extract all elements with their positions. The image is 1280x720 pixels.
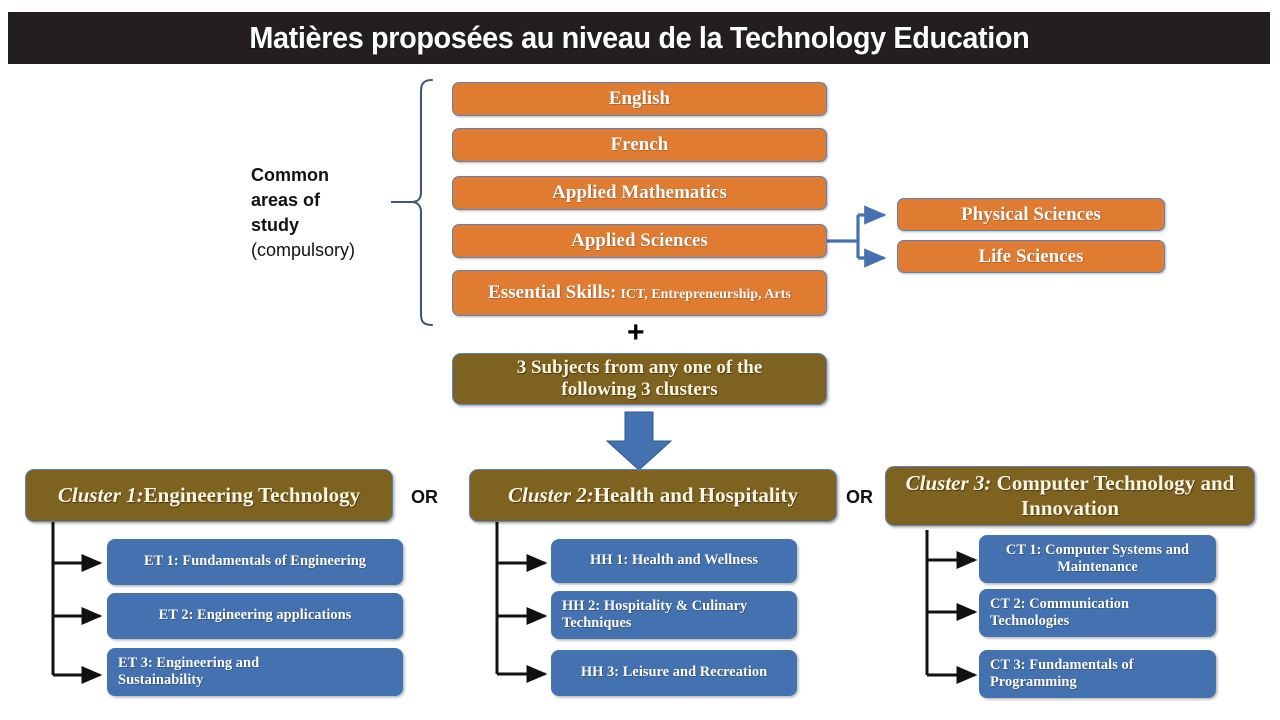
cluster-1-subject-label-et-2: ET 2: Engineering applications — [159, 607, 352, 624]
or-label-2: OR — [846, 487, 873, 508]
cluster-3-subject-ct-1[interactable]: CT 1: Computer Systems and Maintenance — [979, 535, 1216, 583]
cluster-2-title: Health and Hospitality — [594, 483, 798, 508]
common-areas-label-line1: Common — [251, 165, 329, 185]
cluster-1-subject-label-et-1: ET 1: Fundamentals of Engineering — [144, 553, 366, 570]
or-label-1: OR — [411, 487, 438, 508]
cluster-3-connectors — [927, 530, 975, 675]
cluster-3-subject-ct-3[interactable]: CT 3: Fundamentals of Programming — [979, 650, 1216, 698]
cluster-2-subject-label-hh-2-line1: HH 2: Hospitality & Culinary — [562, 598, 747, 615]
cluster-2-prefix: Cluster 2: — [508, 483, 594, 508]
cluster-3-subject-ct-2[interactable]: CT 2: Communication Technologies — [979, 589, 1216, 637]
subject-label-french: French — [611, 134, 669, 156]
subject-label-physical-sciences: Physical Sciences — [961, 204, 1101, 226]
subject-label-english: English — [609, 88, 670, 110]
electives-box[interactable]: 3 Subjects from any one of the following… — [452, 353, 827, 405]
subject-box-physical-sciences[interactable]: Physical Sciences — [897, 198, 1165, 231]
cluster-3-subject-label-ct-1-line2: Maintenance — [1057, 559, 1138, 576]
cluster-2-subject-label-hh-1: HH 1: Health and Wellness — [590, 552, 758, 569]
sciences-branch-connector — [827, 215, 884, 258]
cluster-1-subject-et-1[interactable]: ET 1: Fundamentals of Engineering — [107, 539, 403, 585]
page-title: Matières proposées au niveau de la Techn… — [249, 20, 1029, 56]
electives-line1: 3 Subjects from any one of the — [517, 357, 763, 379]
subject-label-life-sciences: Life Sciences — [978, 246, 1083, 268]
common-areas-label: Common areas of study (compulsory) — [251, 163, 401, 263]
subject-label-applied-sciences: Applied Sciences — [571, 230, 708, 252]
subject-box-english[interactable]: English — [452, 82, 827, 116]
cluster-3-subject-label-ct-2-line2: Technologies — [990, 613, 1069, 630]
subject-box-french[interactable]: French — [452, 128, 827, 162]
essential-skills-heading: Essential Skills: — [488, 282, 616, 303]
plus-symbol: + — [627, 318, 645, 348]
title-bar: Matières proposées au niveau de la Techn… — [8, 12, 1270, 64]
cluster-1-subject-label-et-3-line1: ET 3: Engineering and — [118, 655, 259, 672]
subject-box-applied-sciences[interactable]: Applied Sciences — [452, 224, 827, 258]
cluster-3-subject-label-ct-1-line1: CT 1: Computer Systems and — [1006, 542, 1189, 559]
cluster-1-subject-et-3[interactable]: ET 3: Engineering and Sustainability — [107, 648, 403, 696]
common-areas-label-line4: (compulsory) — [251, 240, 355, 260]
cluster-1-header[interactable]: Cluster 1: Engineering Technology — [25, 469, 393, 522]
subject-box-essential-skills[interactable]: Essential Skills: ICT, Entrepreneurship,… — [452, 270, 827, 316]
subject-label-applied-mathematics: Applied Mathematics — [552, 182, 727, 204]
essential-skills-detail: ICT, Entrepreneurship, Arts — [620, 287, 790, 302]
common-areas-label-line2: areas of — [251, 190, 320, 210]
cluster-2-subject-hh-1[interactable]: HH 1: Health and Wellness — [551, 539, 797, 583]
electives-line2: following 3 clusters — [561, 379, 717, 401]
diagram-canvas: Matières proposées au niveau de la Techn… — [0, 0, 1280, 720]
cluster-1-subject-et-2[interactable]: ET 2: Engineering applications — [107, 593, 403, 639]
cluster-3-header[interactable]: Cluster 3: Computer Technology and Innov… — [885, 466, 1255, 526]
cluster-2-subject-label-hh-2-line2: Techniques — [562, 615, 632, 632]
cluster-3-subject-label-ct-3-line2: Programming — [990, 674, 1077, 691]
cluster-2-subject-label-hh-3: HH 3: Leisure and Recreation — [581, 664, 767, 681]
cluster-3-title: Computer Technology and Innovation — [991, 471, 1234, 520]
cluster-3-prefix: Cluster 3: — [906, 471, 992, 495]
subject-box-applied-mathematics[interactable]: Applied Mathematics — [452, 176, 827, 210]
cluster-3-subject-label-ct-2-line1: CT 2: Communication — [990, 596, 1129, 613]
cluster-1-title: Engineering Technology — [144, 483, 360, 508]
down-arrow-icon — [607, 412, 671, 470]
cluster-2-subject-hh-2[interactable]: HH 2: Hospitality & Culinary Techniques — [551, 591, 797, 639]
cluster-2-header[interactable]: Cluster 2: Health and Hospitality — [469, 469, 837, 522]
cluster-2-connectors — [497, 521, 545, 674]
common-areas-label-line3: study — [251, 215, 299, 235]
cluster-1-prefix: Cluster 1: — [58, 483, 144, 508]
subject-box-life-sciences[interactable]: Life Sciences — [897, 240, 1165, 273]
cluster-3-subject-label-ct-3-line1: CT 3: Fundamentals of — [990, 657, 1134, 674]
cluster-1-connectors — [53, 521, 100, 675]
cluster-1-subject-label-et-3-line2: Sustainability — [118, 672, 203, 689]
cluster-2-subject-hh-3[interactable]: HH 3: Leisure and Recreation — [551, 650, 797, 696]
